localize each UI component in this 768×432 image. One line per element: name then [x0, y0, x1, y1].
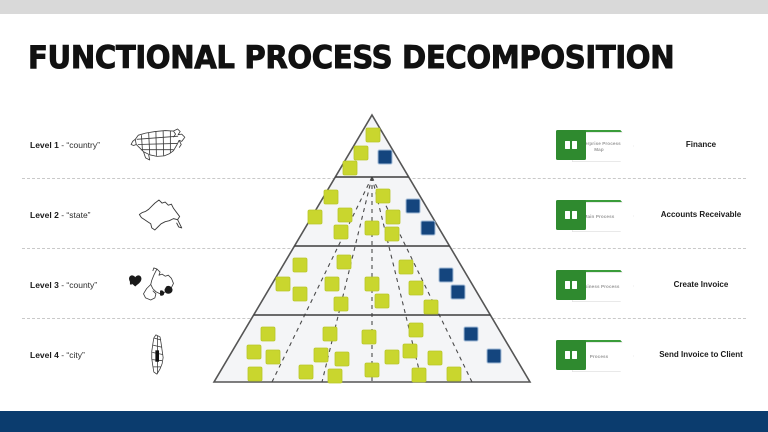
level-2-name: Level 2: [30, 210, 59, 220]
level-2-dash: -: [61, 210, 64, 220]
level-row-3-right: Business Process Create Invoice: [556, 250, 756, 320]
columns-icon: [556, 130, 586, 160]
level-1-label: Level 1 - “country”: [30, 140, 128, 150]
process-label-4: Send Invoice to Client: [634, 350, 756, 361]
i-love-ny-county-map-icon: I: [128, 259, 190, 311]
level-row-1-right: Enterprise Process Map Finance: [556, 110, 756, 180]
level-2-scope: “state”: [66, 210, 90, 220]
level-4-label: Level 4 - “city”: [30, 350, 128, 360]
level-1-scope: “country”: [66, 140, 100, 150]
top-band: [0, 0, 768, 14]
level-row-4-left: Level 4 - “city”: [30, 320, 210, 390]
columns-icon: [556, 200, 586, 230]
process-tag-3[interactable]: Business Process: [556, 270, 634, 300]
columns-icon: [556, 270, 586, 300]
columns-icon: [556, 340, 586, 370]
level-row-2-right: Main Process Accounts Receivable: [556, 180, 756, 250]
page-title: FUNCTIONAL PROCESS DECOMPOSITION: [28, 40, 674, 76]
bottom-band: [0, 411, 768, 432]
level-row-2-left: Level 2 - “state”: [30, 180, 210, 250]
level-row-4-right: Process Send Invoice to Client: [556, 320, 756, 390]
level-row-3-left: Level 3 - “county” I: [30, 250, 210, 320]
level-4-name: Level 4: [30, 350, 59, 360]
process-tag-1[interactable]: Enterprise Process Map: [556, 130, 634, 160]
process-tag-2-text: Main Process: [584, 214, 623, 220]
level-3-scope: “county”: [66, 280, 97, 290]
level-row-1-left: Level 1 - “country”: [30, 110, 210, 180]
level-1-name: Level 1: [30, 140, 59, 150]
level-3-name: Level 3: [30, 280, 59, 290]
level-3-dash: -: [61, 280, 64, 290]
level-3-label: Level 3 - “county”: [30, 280, 128, 290]
level-4-scope: “city”: [66, 350, 84, 360]
level-1-dash: -: [61, 140, 64, 150]
process-tag-4[interactable]: Process: [556, 340, 634, 370]
usa-map-icon: [128, 119, 190, 171]
process-label-2: Accounts Receivable: [634, 210, 756, 221]
new-york-state-map-icon: [128, 189, 190, 241]
slide-canvas: FUNCTIONAL PROCESS DECOMPOSITION Level 1…: [0, 0, 768, 432]
manhattan-city-map-icon: [128, 329, 190, 381]
process-tag-4-text: Process: [590, 354, 617, 360]
level-2-label: Level 2 - “state”: [30, 210, 128, 220]
process-label-3: Create Invoice: [634, 280, 756, 291]
process-label-1: Finance: [634, 140, 756, 151]
pyramid-diagram: [200, 105, 550, 395]
level-4-dash: -: [61, 350, 64, 360]
process-tag-2[interactable]: Main Process: [556, 200, 634, 230]
